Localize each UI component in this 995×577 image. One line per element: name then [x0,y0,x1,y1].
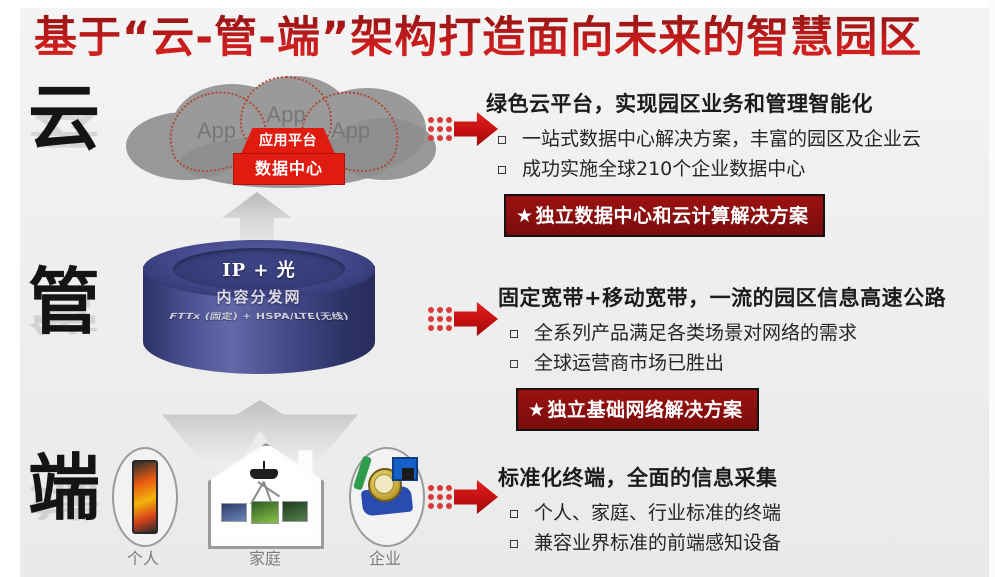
datacenter-block: 应用平台 数据中心 [233,128,343,184]
block-bullet-list: 个人、家庭、行业标准的终端 兼容业界标准的前端感知设备 [498,498,995,558]
pipe-line3-label: FTTx (固定) + HSPA/LTE(无线) [140,310,378,322]
red-arrow-end [428,478,498,518]
page-title: 基于“云-管-端”架构打造面向未来的智慧园区 [34,10,964,66]
block-heading: 标准化终端，全面的信息采集 [498,462,995,492]
device-label-personal: 个人 [100,545,186,569]
device-label-enterprise: 企业 [342,545,428,569]
layer-label-pipe-reflection: 管 [28,292,120,336]
tv-icon [251,501,279,524]
star-icon: ★ [516,205,534,227]
block-heading: 固定宽带+移动宽带，一流的园区信息高速公路 [498,282,995,312]
content-block-cloud: 绿色云平台，实现园区业务和管理智能化 一站式数据中心解决方案，丰富的园区及企业云… [486,88,995,237]
sensor-chip-icon [402,468,414,480]
left-margin [0,0,20,577]
layer-label-cloud: 云 云 [28,78,120,232]
top-margin [0,0,995,8]
content-block-pipe: 固定宽带+移动宽带，一流的园区信息高速公路 全系列产品满足各类场景对网络的需求 … [498,282,995,431]
app-bubble-label: App [197,118,236,144]
smartphone-icon [132,460,158,534]
datacenter-label: 数据中心 [233,153,345,185]
right-arrow-icon [454,480,498,514]
list-item: 全系列产品满足各类场景对网络的需求 [534,318,995,348]
network-cylinder-graphic: IP + 光 内容分发网 FTTx (固定) + HSPA/LTE(无线) [143,240,375,400]
block-heading: 绿色云平台，实现园区业务和管理智能化 [486,88,995,118]
cloud-graphic: App App App 应用平台 数据中心 [120,74,440,194]
right-margin [989,0,995,577]
highlight-banner: ★独立数据中心和云计算解决方案 [504,194,825,237]
pipe-line2-label: 内容分发网 [143,286,375,307]
layer-label-pipe: 管 管 [28,262,120,416]
highlight-banner: ★独立基础网络解决方案 [516,388,759,431]
app-bubble-label: App [266,102,305,128]
list-item: 成功实施全球210个企业数据中心 [522,154,995,184]
access-point-icon [250,469,278,479]
slide-canvas: 基于“云-管-端”架构打造面向未来的智慧园区 基于“云-管-端”架构打造面向未来… [0,0,995,577]
platform-label: 应用平台 [241,128,335,154]
laptop-icon [221,503,247,522]
list-item: 兼容业界标准的前端感知设备 [534,528,995,558]
device-label-home: 家庭 [222,545,308,569]
star-icon: ★ [528,399,546,421]
highlight-banner-label: 独立基础网络解决方案 [548,399,743,421]
right-arrow-icon [454,302,498,336]
red-arrow-pipe [428,300,498,340]
list-item: 全球运营商市场已胜出 [534,348,995,378]
list-item: 个人、家庭、行业标准的终端 [534,498,995,528]
arrow-dots-icon [428,485,454,509]
pipe-line1-label: IP + 光 [143,256,375,282]
layer-label-cloud-reflection: 云 [28,108,120,152]
highlight-banner-label: 独立数据中心和云计算解决方案 [536,205,809,227]
content-block-end: 标准化终端，全面的信息采集 个人、家庭、行业标准的终端 兼容业界标准的前端感知设… [498,462,995,558]
block-bullet-list: 全系列产品满足各类场景对网络的需求 全球运营商市场已胜出 [498,318,995,378]
layer-label-end-reflection: 端 [28,478,120,522]
block-bullet-list: 一站式数据中心解决方案，丰富的园区及企业云 成功实施全球210个企业数据中心 [486,124,995,184]
arrow-dots-icon [428,307,454,331]
meter-dial-face-icon [374,474,394,494]
house-icon [208,443,318,543]
arrow-dots-icon [428,117,454,141]
list-item: 一站式数据中心解决方案，丰富的园区及企业云 [522,124,995,154]
tablet-icon [282,501,308,522]
